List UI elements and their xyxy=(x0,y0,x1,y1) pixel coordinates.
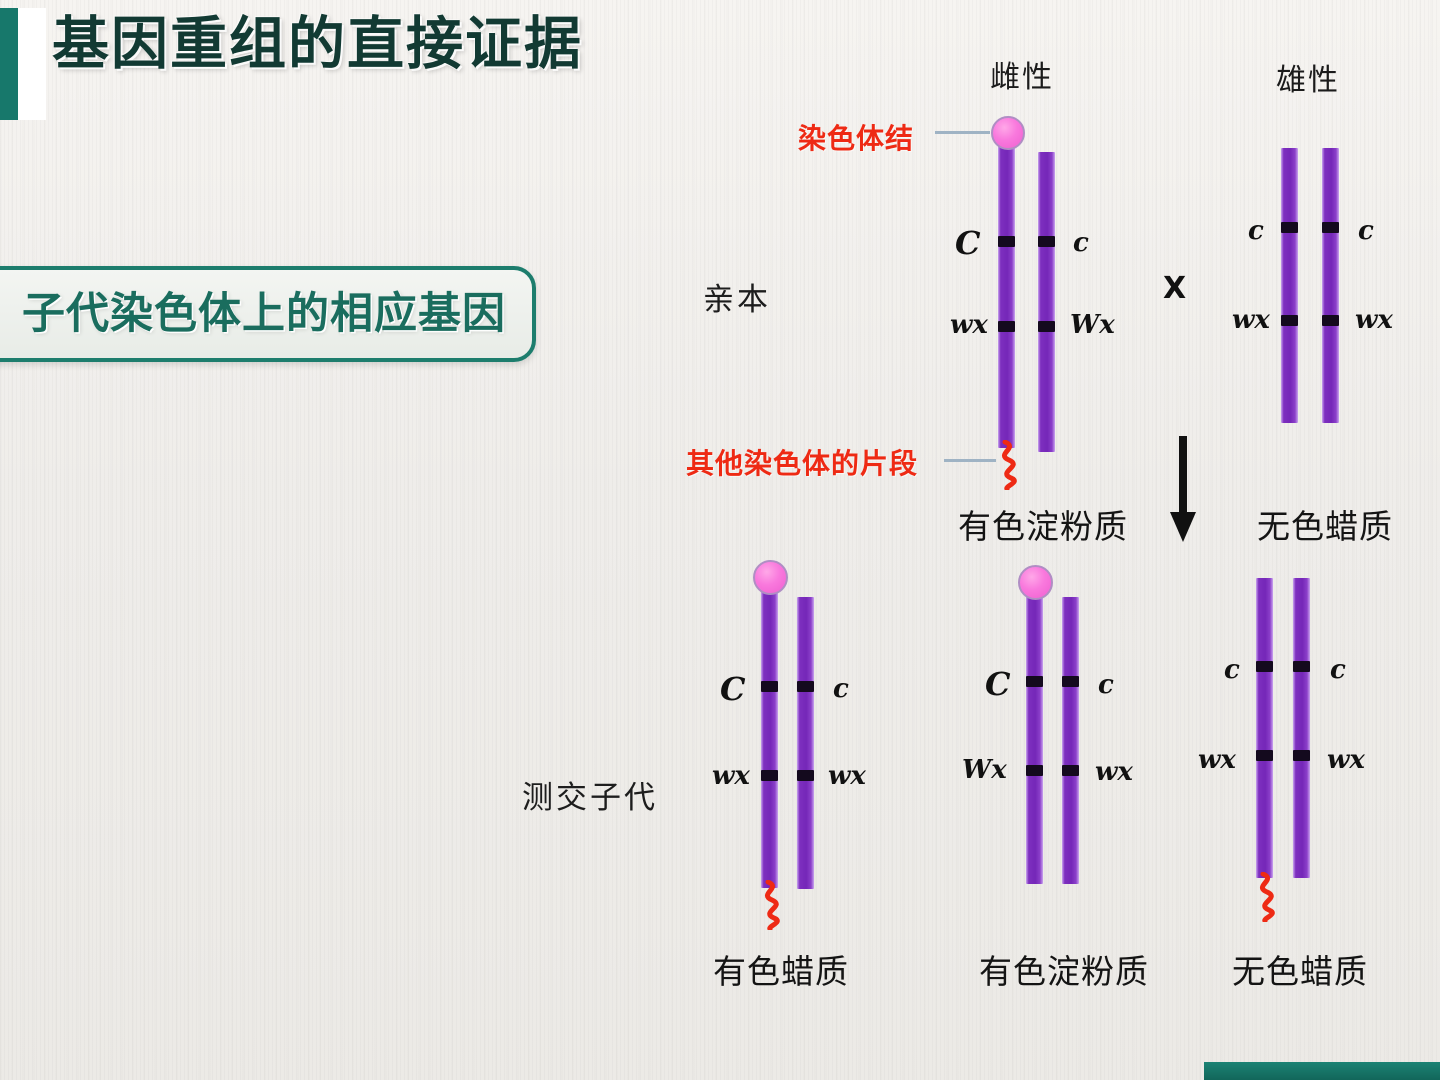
gene-band-offspring3-right-wx xyxy=(1293,750,1310,761)
chromosome-fragment-offspring-1 xyxy=(754,880,790,930)
gene-label-male-right-bottom: wx xyxy=(1355,305,1393,335)
offspring-label: 测交子代 xyxy=(522,772,658,817)
gene-band-offspring3-left-wx xyxy=(1256,750,1273,761)
gene-band-female-left-c xyxy=(998,236,1015,247)
chromosome-offspring3-right xyxy=(1293,578,1310,878)
gene-label-male-left-bottom: wx xyxy=(1232,305,1270,335)
gene-label-offspring2-right-bottom: wx xyxy=(1095,757,1133,787)
bottom-accent-bar xyxy=(1204,1062,1440,1080)
gene-band-offspring1-right-c xyxy=(797,681,814,692)
leader-line-knob xyxy=(935,131,990,134)
gene-band-offspring2-right-wx xyxy=(1062,765,1079,776)
gene-label-offspring3-left-bottom: wx xyxy=(1198,745,1236,775)
gene-band-male-right-wx xyxy=(1322,315,1339,326)
generation-arrow-icon xyxy=(1168,436,1198,546)
gene-band-offspring3-right-c xyxy=(1293,661,1310,672)
phenotype-offspring-1: 有色蜡质 xyxy=(713,945,849,993)
gene-band-female-right-c xyxy=(1038,236,1055,247)
gene-label-male-left-top: c xyxy=(1248,216,1264,246)
gene-label-offspring3-left-top: c xyxy=(1224,655,1240,685)
gene-band-offspring1-right-wx xyxy=(797,770,814,781)
cross-symbol: X xyxy=(1163,271,1186,306)
gene-band-male-left-wx xyxy=(1281,315,1298,326)
gene-label-offspring2-right-top: c xyxy=(1098,670,1114,700)
male-label: 雄性 xyxy=(1276,55,1340,99)
page-title: 基因重组的直接证据 xyxy=(52,16,583,73)
chromosome-offspring1-left xyxy=(761,588,778,888)
gene-label-offspring3-right-top: c xyxy=(1330,655,1346,685)
chromosome-offspring3-left xyxy=(1256,578,1273,878)
gene-label-male-right-top: c xyxy=(1358,216,1374,246)
chromosome-female-left xyxy=(998,143,1015,448)
gene-label-female-right-bottom: Wx xyxy=(1070,310,1115,340)
gene-band-offspring1-left-wx xyxy=(761,770,778,781)
gene-label-offspring1-left-bottom: wx xyxy=(712,761,750,791)
gene-band-offspring2-right-c xyxy=(1062,676,1079,687)
gene-band-offspring1-left-c xyxy=(761,681,778,692)
female-label: 雌性 xyxy=(990,52,1054,96)
banner-label: 子代染色体上的相应基因 xyxy=(0,278,530,342)
phenotype-male-parent: 无色蜡质 xyxy=(1257,500,1393,548)
gene-label-female-left-top: C xyxy=(955,224,980,262)
annotation-other-fragment: 其他染色体的片段 xyxy=(686,442,918,482)
gene-band-male-right-c xyxy=(1322,222,1339,233)
chromosome-fragment-female xyxy=(991,440,1027,490)
gene-label-offspring1-right-bottom: wx xyxy=(828,761,866,791)
chromosome-knob-offspring-2 xyxy=(1018,565,1053,600)
leader-line-fragment xyxy=(944,459,996,462)
chromosome-female-right xyxy=(1038,152,1055,452)
chromosome-fragment-offspring-3 xyxy=(1249,872,1285,922)
annotation-chromosome-knob: 染色体结 xyxy=(798,117,914,157)
gene-band-female-right-wx xyxy=(1038,321,1055,332)
gene-label-offspring1-left-top: C xyxy=(720,670,745,708)
gene-band-offspring2-left-wx xyxy=(1026,765,1043,776)
chromosome-knob-offspring-1 xyxy=(753,560,788,595)
gene-band-female-left-wx xyxy=(998,321,1015,332)
gene-label-offspring1-right-top: c xyxy=(833,674,849,704)
chromosome-male-right xyxy=(1322,148,1339,423)
gene-band-offspring2-left-c xyxy=(1026,676,1043,687)
gene-label-female-left-bottom: wx xyxy=(950,310,988,340)
chromosome-male-left xyxy=(1281,148,1298,423)
phenotype-offspring-2: 有色淀粉质 xyxy=(979,945,1149,993)
gene-label-offspring3-right-bottom: wx xyxy=(1327,745,1365,775)
chromosome-offspring1-right xyxy=(797,597,814,889)
gene-band-male-left-c xyxy=(1281,222,1298,233)
parents-label: 亲本 xyxy=(703,274,771,319)
chromosome-offspring2-left xyxy=(1026,592,1043,884)
chromosome-knob-female xyxy=(991,116,1025,150)
gene-band-offspring3-left-c xyxy=(1256,661,1273,672)
gene-label-female-right-top: c xyxy=(1073,228,1089,258)
gene-label-offspring2-left-bottom: Wx xyxy=(962,755,1007,785)
chromosome-offspring2-right xyxy=(1062,597,1079,884)
phenotype-offspring-3: 无色蜡质 xyxy=(1232,945,1368,993)
phenotype-female-parent: 有色淀粉质 xyxy=(958,500,1128,548)
gene-label-offspring2-left-top: C xyxy=(985,665,1010,703)
title-accent-inner xyxy=(18,8,46,120)
slide-background xyxy=(0,0,1440,1080)
